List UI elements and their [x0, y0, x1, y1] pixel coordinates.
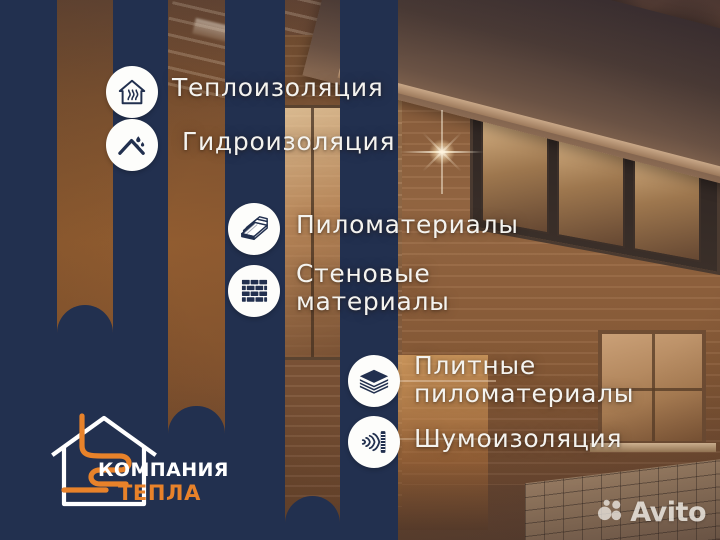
service-icon-pilomaterialy[interactable]: [228, 203, 280, 255]
poster-canvas: Теплоизоляция Гидроизоляция Пиломатериал…: [0, 0, 720, 540]
sound-waves-icon: [359, 427, 389, 457]
brick-wall-icon: [240, 277, 269, 306]
avito-wordmark: Avito: [630, 497, 706, 528]
avito-dots-icon: [597, 497, 624, 528]
company-logo[interactable]: КОМПАНИЯ ТЕПЛА: [48, 412, 238, 517]
service-label-pilomaterialy: Пиломатериалы: [296, 211, 519, 239]
stacked-panels-icon: [358, 366, 390, 396]
service-label-stenovye-materialy: Стеновые материалы: [296, 260, 450, 316]
logo-word-company: КОМПАНИЯ: [98, 459, 229, 481]
service-icon-shumoizolyaciya[interactable]: [348, 416, 400, 468]
service-icon-gidroizolyaciya[interactable]: [106, 119, 158, 171]
roof-water-drops-icon: [117, 130, 148, 161]
avito-watermark: Avito: [597, 497, 706, 528]
service-icon-stenovye-materialy[interactable]: [228, 265, 280, 317]
service-icon-teploizolyaciya[interactable]: [106, 66, 158, 118]
service-label-plitnye: Плитные пиломатериалы: [414, 352, 634, 408]
service-icon-plitnye-pilomaterialy[interactable]: [348, 355, 400, 407]
service-label-gidroizolyaciya: Гидроизоляция: [182, 128, 395, 156]
lumber-boards-icon: [238, 214, 270, 244]
service-label-shumoizolyaciya: Шумоизоляция: [414, 425, 622, 453]
logo-word-tepla: ТЕПЛА: [118, 481, 201, 505]
service-label-teploizolyaciya: Теплоизоляция: [172, 74, 384, 102]
house-heat-icon: [117, 77, 147, 107]
